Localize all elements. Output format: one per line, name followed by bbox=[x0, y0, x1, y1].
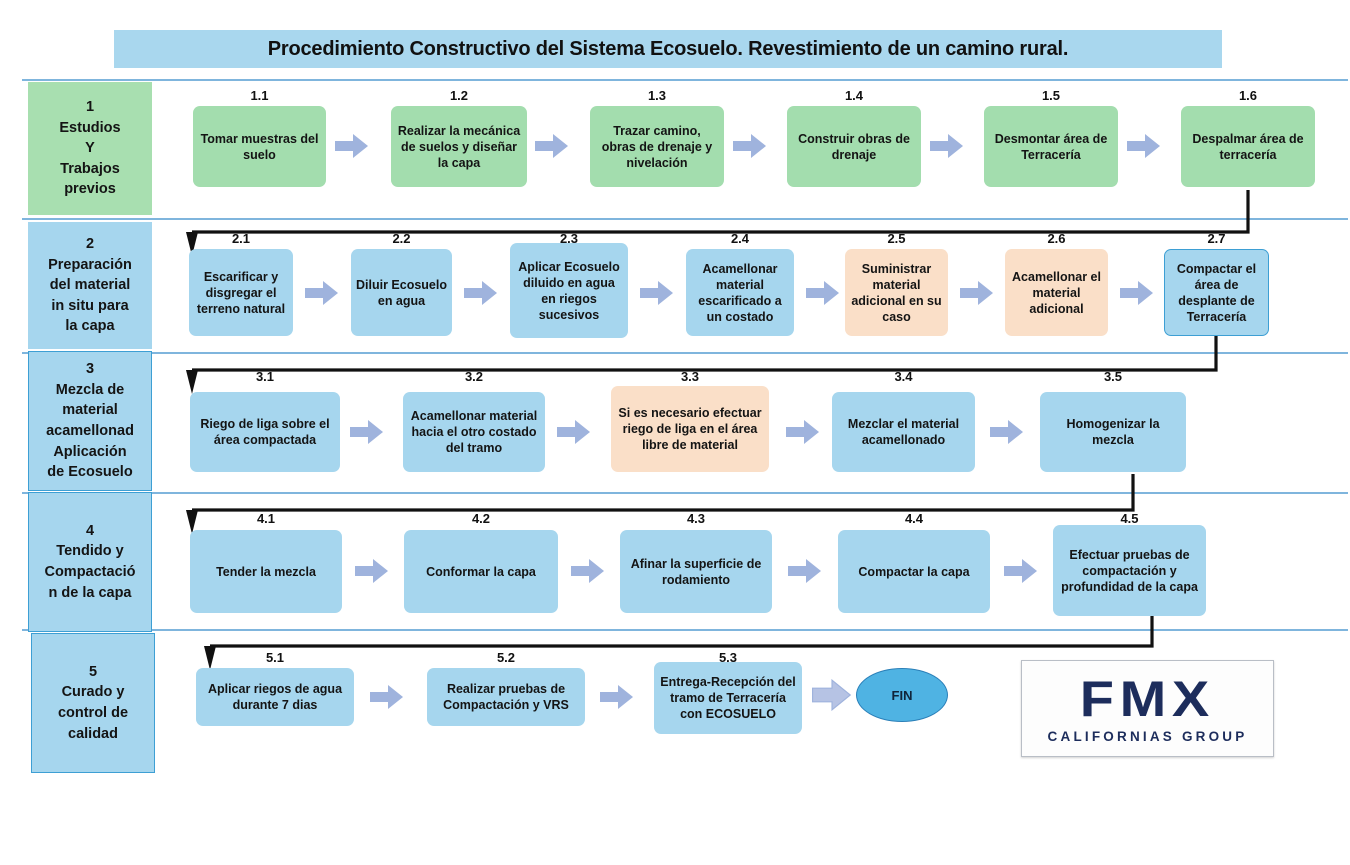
node-1-4-label: Construir obras de drenaje bbox=[792, 131, 916, 163]
node-5-3-label: Entrega-Recepción del tramo de Terracerí… bbox=[659, 674, 797, 722]
node-number-2-2: 2.2 bbox=[351, 231, 452, 246]
node-number-2-5: 2.5 bbox=[845, 231, 948, 246]
node-1-6[interactable]: Despalmar área de terracería bbox=[1181, 106, 1315, 187]
arrow-3-1-to-3-2 bbox=[350, 418, 384, 446]
stage-5-number: 5 bbox=[89, 662, 97, 683]
arrow-1-1-to-1-2 bbox=[335, 132, 369, 160]
stage-2-line-2: in situ para bbox=[51, 296, 128, 317]
node-number-4-1: 4.1 bbox=[190, 511, 342, 526]
sidebar-item-stage-2[interactable]: 2 Preparación del material in situ para … bbox=[28, 222, 152, 349]
sidebar-item-stage-5[interactable]: 5 Curado y control de calidad bbox=[31, 633, 155, 773]
stage-3-number: 3 bbox=[86, 359, 94, 380]
node-2-5[interactable]: Suministrar material adicional en su cas… bbox=[845, 249, 948, 336]
arrow-2-2-to-2-3 bbox=[464, 279, 498, 307]
node-2-3[interactable]: Aplicar Ecosuelo diluido en agua en rieg… bbox=[510, 243, 628, 338]
node-4-3-label: Afinar la superficie de rodamiento bbox=[625, 556, 767, 588]
arrow-4-1-to-4-2 bbox=[355, 557, 389, 585]
arrow-5-1-to-5-2 bbox=[370, 683, 404, 711]
arrow-1-3-to-1-4 bbox=[733, 132, 767, 160]
stage-1-line-0: Estudios bbox=[59, 118, 120, 139]
node-2-4[interactable]: Acamellonar material escarificado a un c… bbox=[686, 249, 794, 336]
node-2-7[interactable]: Compactar el área de desplante de Terrac… bbox=[1164, 249, 1269, 336]
arrow-2-3-to-2-4 bbox=[640, 279, 674, 307]
stage-4-line-1: Compactació bbox=[44, 562, 135, 583]
arrow-2-6-to-2-7 bbox=[1120, 279, 1154, 307]
connector-row4-to-row5 bbox=[210, 616, 1152, 646]
node-number-3-1: 3.1 bbox=[190, 369, 340, 384]
page-title: Procedimiento Constructivo del Sistema E… bbox=[268, 38, 1068, 61]
node-5-1[interactable]: Aplicar riegos de agua durante 7 dias bbox=[196, 668, 354, 726]
arrow-2-4-to-2-5 bbox=[806, 279, 840, 307]
chart-title-bar: Procedimiento Constructivo del Sistema E… bbox=[114, 30, 1222, 68]
stage-3-line-4: de Ecosuelo bbox=[47, 462, 132, 483]
node-number-4-5: 4.5 bbox=[1053, 511, 1206, 526]
sidebar-item-stage-4[interactable]: 4 Tendido y Compactació n de la capa bbox=[28, 492, 152, 632]
node-2-6[interactable]: Acamellonar el material adicional bbox=[1005, 249, 1108, 336]
arrow-5-3-to-fin bbox=[812, 679, 852, 711]
node-4-2[interactable]: Conformar la capa bbox=[404, 530, 558, 613]
node-4-3[interactable]: Afinar la superficie de rodamiento bbox=[620, 530, 772, 613]
arrow-4-3-to-4-4 bbox=[788, 557, 822, 585]
node-2-7-label: Compactar el área de desplante de Terrac… bbox=[1170, 261, 1263, 325]
node-number-1-3: 1.3 bbox=[590, 88, 724, 103]
node-5-3[interactable]: Entrega-Recepción del tramo de Terracerí… bbox=[654, 662, 802, 734]
node-number-4-3: 4.3 bbox=[620, 511, 772, 526]
arrow-2-1-to-2-2 bbox=[305, 279, 339, 307]
arrow-4-4-to-4-5 bbox=[1004, 557, 1038, 585]
band-rule-3 bbox=[22, 492, 1348, 494]
node-1-2-label: Realizar la mecánica de suelos y diseñar… bbox=[396, 123, 522, 171]
node-number-3-2: 3.2 bbox=[403, 369, 545, 384]
node-number-2-6: 2.6 bbox=[1005, 231, 1108, 246]
node-number-3-5: 3.5 bbox=[1040, 369, 1186, 384]
node-5-2-label: Realizar pruebas de Compactación y VRS bbox=[432, 681, 580, 713]
node-1-3[interactable]: Trazar camino, obras de drenaje y nivela… bbox=[590, 106, 724, 187]
arrow-5-2-to-5-3 bbox=[600, 683, 634, 711]
stage-4-line-0: Tendido y bbox=[56, 541, 123, 562]
arrow-3-3-to-3-4 bbox=[786, 418, 820, 446]
node-2-6-label: Acamellonar el material adicional bbox=[1010, 269, 1103, 317]
node-2-4-label: Acamellonar material escarificado a un c… bbox=[691, 261, 789, 325]
sidebar-item-stage-3[interactable]: 3 Mezcla de material acamellonad Aplicac… bbox=[28, 351, 152, 491]
node-2-1-label: Escarificar y disgregar el terreno natur… bbox=[194, 269, 288, 317]
node-3-1-label: Riego de liga sobre el área compactada bbox=[195, 416, 335, 448]
node-number-4-4: 4.4 bbox=[838, 511, 990, 526]
fmx-logo-wordmark: FMX bbox=[1080, 674, 1215, 724]
node-number-1-4: 1.4 bbox=[787, 88, 921, 103]
node-number-1-2: 1.2 bbox=[391, 88, 527, 103]
arrow-3-4-to-3-5 bbox=[990, 418, 1024, 446]
terminator-fin[interactable]: FIN bbox=[856, 668, 948, 722]
stage-2-line-3: la capa bbox=[65, 316, 114, 337]
node-number-5-2: 5.2 bbox=[427, 650, 585, 665]
node-3-5[interactable]: Homogenizar la mezcla bbox=[1040, 392, 1186, 472]
stage-5-line-2: calidad bbox=[68, 724, 118, 745]
arrow-4-2-to-4-3 bbox=[571, 557, 605, 585]
arrow-3-2-to-3-3 bbox=[557, 418, 591, 446]
stage-5-line-1: control de bbox=[58, 703, 128, 724]
node-number-1-6: 1.6 bbox=[1181, 88, 1315, 103]
node-2-1[interactable]: Escarificar y disgregar el terreno natur… bbox=[189, 249, 293, 336]
arrow-2-5-to-2-6 bbox=[960, 279, 994, 307]
node-2-2[interactable]: Diluir Ecosuelo en agua bbox=[351, 249, 452, 336]
fmx-logo: FMX CALIFORNIAS GROUP bbox=[1021, 660, 1274, 757]
stage-4-number: 4 bbox=[86, 521, 94, 542]
node-4-4[interactable]: Compactar la capa bbox=[838, 530, 990, 613]
flowchart-canvas: Procedimiento Constructivo del Sistema E… bbox=[0, 0, 1350, 865]
node-5-1-label: Aplicar riegos de agua durante 7 dias bbox=[201, 681, 349, 713]
arrow-1-2-to-1-3 bbox=[535, 132, 569, 160]
stage-4-line-2: n de la capa bbox=[48, 583, 131, 604]
fmx-logo-tagline: CALIFORNIAS GROUP bbox=[1048, 729, 1248, 744]
stage-1-line-3: previos bbox=[64, 179, 116, 200]
node-3-2-label: Acamellonar material hacia el otro costa… bbox=[408, 408, 540, 456]
arrow-1-4-to-1-5 bbox=[930, 132, 964, 160]
band-rule-4 bbox=[22, 629, 1348, 631]
node-3-1[interactable]: Riego de liga sobre el área compactada bbox=[190, 392, 340, 472]
node-1-1[interactable]: Tomar muestras del suelo bbox=[193, 106, 326, 187]
stage-1-number: 1 bbox=[86, 97, 94, 118]
fin-label: FIN bbox=[892, 688, 913, 703]
stage-2-number: 2 bbox=[86, 234, 94, 255]
node-number-5-1: 5.1 bbox=[196, 650, 354, 665]
node-number-2-4: 2.4 bbox=[686, 231, 794, 246]
node-1-4[interactable]: Construir obras de drenaje bbox=[787, 106, 921, 187]
stage-2-line-0: Preparación bbox=[48, 255, 132, 276]
node-number-2-7: 2.7 bbox=[1164, 231, 1269, 246]
node-number-2-1: 2.1 bbox=[189, 231, 293, 246]
stage-3-line-2: acamellonad bbox=[46, 421, 134, 442]
node-number-1-5: 1.5 bbox=[984, 88, 1118, 103]
node-4-1-label: Tender la mezcla bbox=[216, 564, 316, 580]
node-4-2-label: Conformar la capa bbox=[426, 564, 536, 580]
band-rule-2 bbox=[22, 352, 1348, 354]
node-3-5-label: Homogenizar la mezcla bbox=[1045, 416, 1181, 448]
stage-1-line-1: Y bbox=[85, 138, 95, 159]
node-number-1-1: 1.1 bbox=[193, 88, 326, 103]
node-3-4-label: Mezclar el material acamellonado bbox=[837, 416, 970, 448]
band-rule-1 bbox=[22, 218, 1348, 220]
node-2-3-label: Aplicar Ecosuelo diluido en agua en rieg… bbox=[515, 259, 623, 323]
stage-3-line-3: Aplicación bbox=[53, 442, 126, 463]
node-4-5[interactable]: Efectuar pruebas de compactación y profu… bbox=[1053, 525, 1206, 616]
node-5-2[interactable]: Realizar pruebas de Compactación y VRS bbox=[427, 668, 585, 726]
node-4-5-label: Efectuar pruebas de compactación y profu… bbox=[1058, 547, 1201, 595]
stage-1-line-2: Trabajos bbox=[60, 159, 120, 180]
stage-3-line-1: material bbox=[62, 400, 118, 421]
arrow-1-5-to-1-6 bbox=[1127, 132, 1161, 160]
node-3-4[interactable]: Mezclar el material acamellonado bbox=[832, 392, 975, 472]
node-1-2[interactable]: Realizar la mecánica de suelos y diseñar… bbox=[391, 106, 527, 187]
stage-3-line-0: Mezcla de bbox=[56, 380, 125, 401]
node-3-3-label: Si es necesario efectuar riego de liga e… bbox=[616, 405, 764, 453]
sidebar-item-stage-1[interactable]: 1 Estudios Y Trabajos previos bbox=[28, 82, 152, 215]
node-1-5[interactable]: Desmontar área de Terracería bbox=[984, 106, 1118, 187]
node-2-5-label: Suministrar material adicional en su cas… bbox=[850, 261, 943, 325]
node-1-1-label: Tomar muestras del suelo bbox=[198, 131, 321, 163]
stage-5-line-0: Curado y bbox=[62, 682, 125, 703]
node-1-6-label: Despalmar área de terracería bbox=[1186, 131, 1310, 163]
node-1-3-label: Trazar camino, obras de drenaje y nivela… bbox=[595, 123, 719, 171]
node-3-2[interactable]: Acamellonar material hacia el otro costa… bbox=[403, 392, 545, 472]
node-2-2-label: Diluir Ecosuelo en agua bbox=[356, 277, 447, 309]
node-4-1[interactable]: Tender la mezcla bbox=[190, 530, 342, 613]
node-number-4-2: 4.2 bbox=[404, 511, 558, 526]
node-number-3-4: 3.4 bbox=[832, 369, 975, 384]
node-3-3[interactable]: Si es necesario efectuar riego de liga e… bbox=[611, 386, 769, 472]
node-number-3-3: 3.3 bbox=[611, 369, 769, 384]
connector-row1-to-row2 bbox=[192, 190, 1248, 232]
stage-2-line-1: del material bbox=[50, 275, 131, 296]
node-4-4-label: Compactar la capa bbox=[858, 564, 969, 580]
band-rule-0 bbox=[22, 79, 1348, 81]
node-1-5-label: Desmontar área de Terracería bbox=[989, 131, 1113, 163]
